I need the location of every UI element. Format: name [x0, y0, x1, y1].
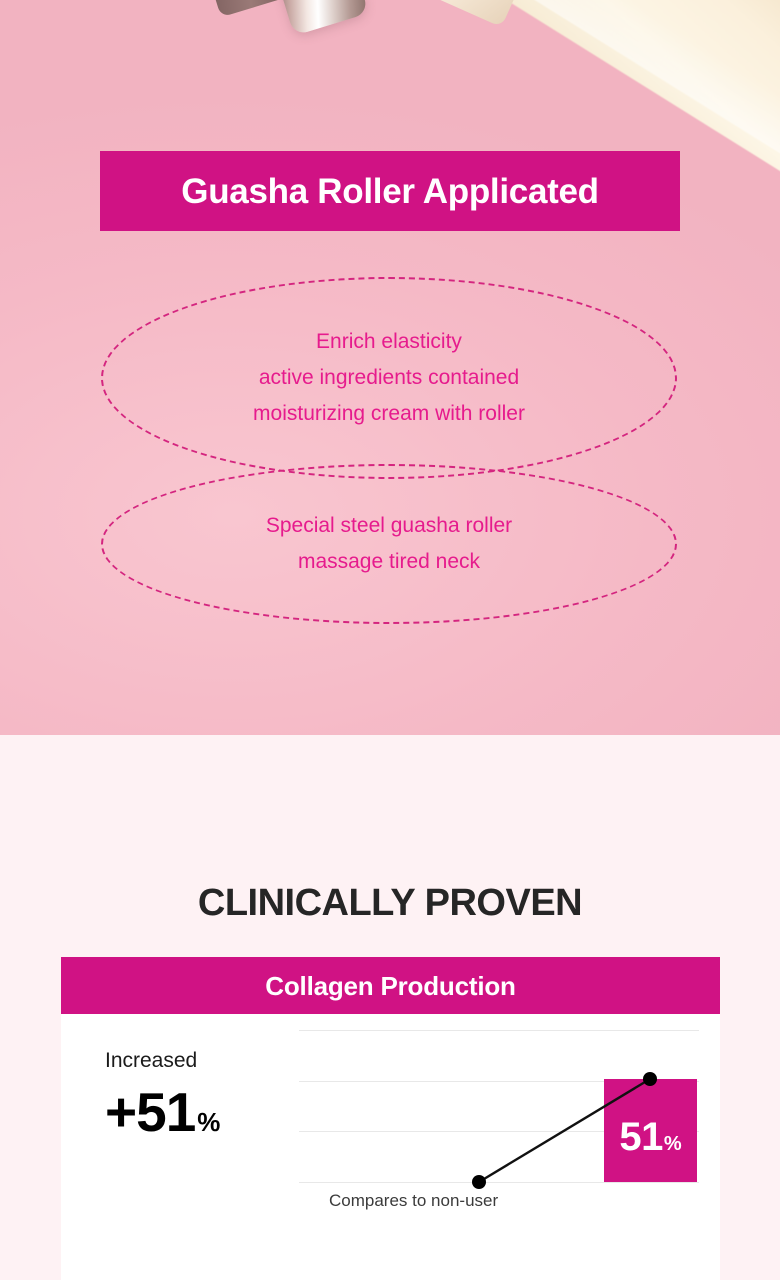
stat-block: Increased +51 % [105, 1050, 315, 1140]
stat-number: +51 [105, 1085, 195, 1140]
bubble-guasha-text: Special steel guasha roller massage tire… [266, 508, 512, 580]
product-detail-page: Guasha Roller Applicated Enrich elastici… [0, 0, 780, 1280]
card-body: Increased +51 % 51 % [61, 1014, 720, 1280]
bubble-guasha: Special steel guasha roller massage tire… [101, 464, 677, 624]
collagen-production-card: Collagen Production Increased +51 % [61, 957, 720, 1280]
card-header-title: Collagen Production [265, 973, 515, 999]
stat-unit: % [197, 1109, 220, 1135]
data-point-user [643, 1072, 657, 1086]
hero-banner: Guasha Roller Applicated [100, 151, 680, 231]
trend-line-segment [479, 1079, 650, 1182]
chart-trend-line [299, 1014, 705, 1280]
hero-banner-title: Guasha Roller Applicated [181, 174, 598, 209]
page-title: CLINICALLY PROVEN [0, 884, 780, 922]
card-header: Collagen Production [61, 957, 720, 1014]
hero-section: Guasha Roller Applicated Enrich elastici… [0, 0, 780, 735]
stat-label: Increased [105, 1050, 315, 1071]
clinically-proven-section: CLINICALLY PROVEN Collagen Production In… [0, 735, 780, 1280]
stat-value: +51 % [105, 1085, 315, 1140]
bubble-elasticity: Enrich elasticity active ingredients con… [101, 277, 677, 479]
data-point-non-user [472, 1175, 486, 1189]
collagen-chart: 51 % Compares to non-user [299, 1014, 705, 1280]
bubble-elasticity-text: Enrich elasticity active ingredients con… [253, 324, 525, 432]
chart-axis-caption: Compares to non-user [329, 1192, 498, 1209]
